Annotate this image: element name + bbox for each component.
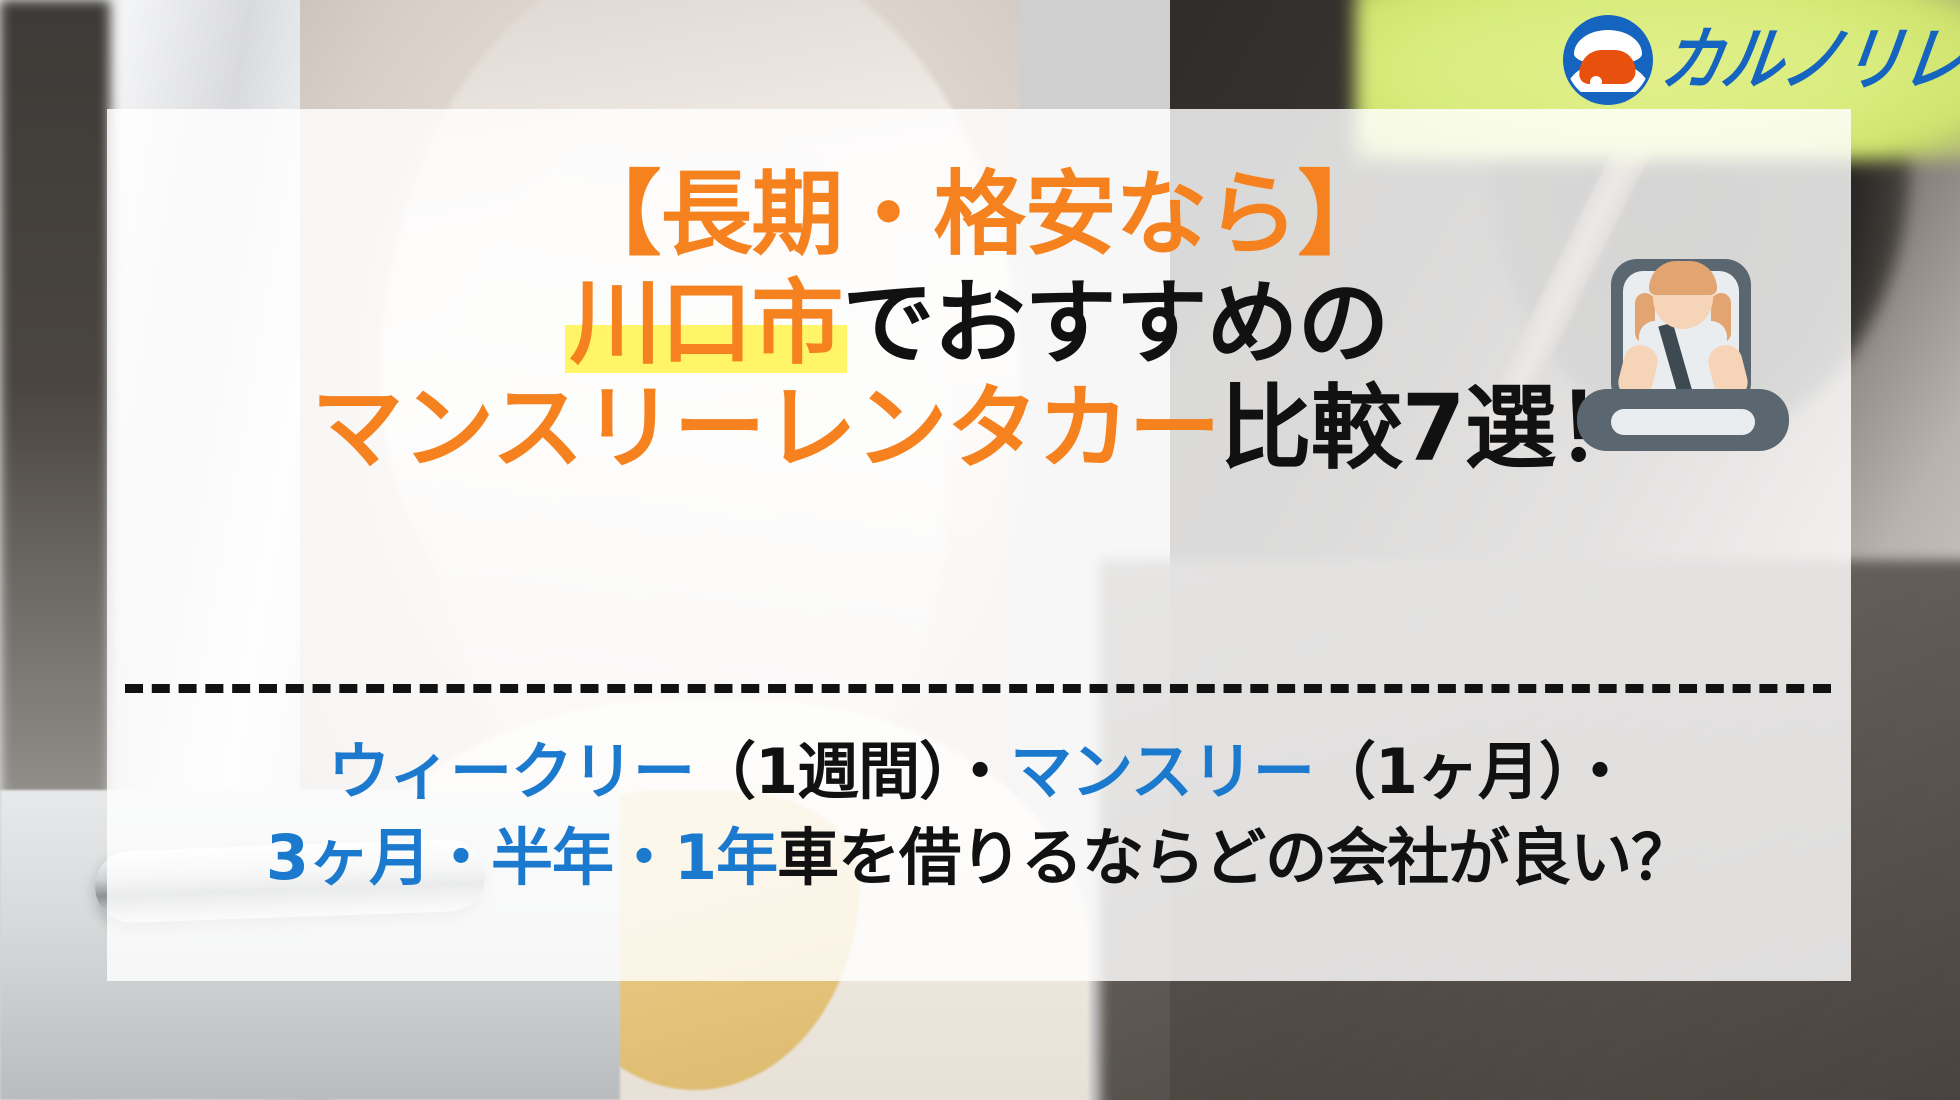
- subtitle-monthly-duration: （1ヶ月）・: [1314, 735, 1630, 808]
- subtitle-monthly-label: マンスリー: [1010, 735, 1314, 808]
- subtitle-weekly-label: ウィークリー: [328, 735, 694, 808]
- dashed-divider: [125, 684, 1831, 693]
- brand-logo-text: カルノリレンタカー: [1657, 25, 1960, 94]
- subtitle-long-terms: 3ヶ月・半年・1年: [266, 821, 777, 894]
- thumbnail-canvas: カルノリレンタカー 【長期・格安なら】 川口市でおすすめの マンスリーレンタカー…: [0, 0, 1960, 1100]
- subtitle-line-1: ウィークリー（1週間）・マンスリー（1ヶ月）・: [107, 729, 1851, 815]
- subtitle-block: ウィークリー（1週間）・マンスリー（1ヶ月）・ 3ヶ月・半年・1年車を借りるなら…: [107, 729, 1851, 900]
- woman-driving-car-illustration: [1577, 259, 1807, 474]
- title-highlighted-city: 川口市: [569, 272, 842, 375]
- car-in-circle-icon: [1566, 18, 1650, 102]
- title-line-3-orange: マンスリーレンタカー: [311, 375, 1219, 482]
- logo-car-shape: [1578, 50, 1638, 84]
- content-panel: 【長期・格安なら】 川口市でおすすめの マンスリーレンタカー比較7選！ ウィーク…: [107, 109, 1851, 981]
- logo-wheel-shape: [1590, 76, 1602, 88]
- illustration-steering-wheel-inner: [1611, 409, 1755, 435]
- subtitle-question: 車を借りるならどの会社が良い？: [777, 821, 1692, 894]
- subtitle-line-2: 3ヶ月・半年・1年車を借りるならどの会社が良い？: [107, 815, 1851, 901]
- brand-logo[interactable]: カルノリレンタカー: [1566, 18, 1960, 102]
- title-line-2-rest: でおすすめの: [843, 270, 1389, 377]
- subtitle-weekly-duration: （1週間）・: [694, 735, 1010, 808]
- title-line-1: 【長期・格安なら】: [107, 163, 1851, 266]
